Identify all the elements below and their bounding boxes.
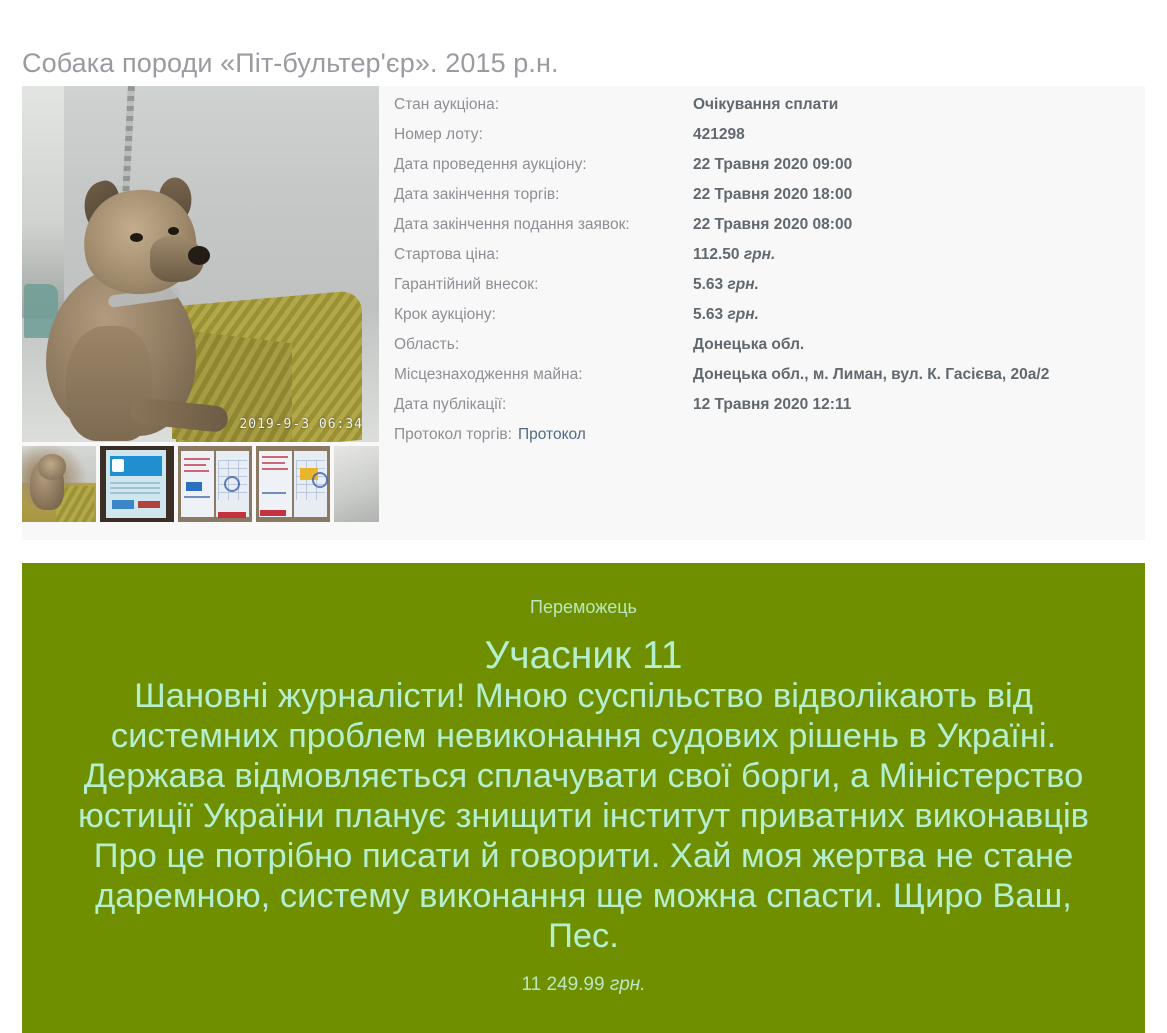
thumbnail-wall[interactable] [334, 446, 379, 522]
row-value-amount: 112.50 [693, 246, 740, 263]
table-row-protocol: Протокол торгів: Протокол [394, 426, 1134, 456]
row-label: Область: [394, 336, 693, 354]
row-value-amount: 5.63 [693, 276, 723, 293]
winner-price-amount: 11 249.99 [521, 974, 604, 995]
table-row-publication-date: Дата публікації: 12 Травня 2020 12:11 [394, 396, 1134, 426]
winner-caption: Переможець [48, 593, 1119, 621]
table-row-auction-date: Дата проведення аукціону: 22 Травня 2020… [394, 156, 1134, 186]
lot-details-table: Стан аукціона: Очікування сплати Номер л… [394, 96, 1134, 456]
table-row-start-price: Стартова ціна: 112.50 грн. [394, 246, 1134, 276]
currency-label: грн. [744, 246, 775, 263]
currency-label: грн. [727, 306, 758, 323]
thumbnail-dog-photo-image [22, 446, 96, 522]
thumbnail-passport-cover-image [100, 446, 174, 522]
currency-label: грн. [610, 974, 646, 995]
table-row-property-location: Місцезнаходження майна: Донецька обл., м… [394, 366, 1134, 396]
row-label: Гарантійний внесок: [394, 276, 693, 294]
row-label: Дата проведення аукціону: [394, 156, 693, 174]
row-label: Протокол торгів: [394, 426, 512, 444]
row-label: Дата закінчення торгів: [394, 186, 693, 204]
currency-label: грн. [727, 276, 758, 293]
thumbnail-passport-pages-2[interactable] [256, 446, 330, 522]
row-label: Дата публікації: [394, 396, 693, 414]
row-value: 22 Травня 2020 18:00 [693, 186, 852, 204]
row-value: 22 Травня 2020 08:00 [693, 216, 852, 234]
row-value: Донецька обл., м. Лиман, вул. К. Гасієва… [693, 366, 1049, 384]
table-row-lot-number: Номер лоту: 421298 [394, 126, 1134, 156]
thumbnail-passport-cover[interactable] [100, 446, 174, 522]
thumbnail-passport-pages-1-image [178, 446, 252, 522]
thumbnail-passport-pages-1[interactable] [178, 446, 252, 522]
thumbnail-dog-photo[interactable] [22, 446, 96, 522]
table-row-application-end-date: Дата закінчення подання заявок: 22 Травн… [394, 216, 1134, 246]
row-label: Дата закінчення подання заявок: [394, 216, 693, 234]
table-row-auction-step: Крок аукціону: 5.63 грн. [394, 306, 1134, 336]
protocol-link[interactable]: Протокол [518, 426, 586, 444]
winner-panel: Переможець Учасник 11 Шановні журналісти… [22, 563, 1145, 1033]
lot-detail-page: Собака породи «Піт-бультер'єр». 2015 р.н… [0, 0, 1167, 1033]
row-value: 22 Травня 2020 09:00 [693, 156, 852, 174]
table-row-bidding-end-date: Дата закінчення торгів: 22 Травня 2020 1… [394, 186, 1134, 216]
row-label: Місцезнаходження майна: [394, 366, 693, 384]
row-value: 5.63 грн. [693, 276, 759, 294]
table-row-guarantee-deposit: Гарантійний внесок: 5.63 грн. [394, 276, 1134, 306]
row-value-amount: 5.63 [693, 306, 723, 323]
dog-nose-shape [188, 246, 210, 265]
row-label: Номер лоту: [394, 126, 693, 144]
table-row-auction-state: Стан аукціона: Очікування сплати [394, 96, 1134, 126]
status-badge: Очікування сплати [693, 96, 838, 114]
winner-name: Учасник 11 [48, 631, 1119, 680]
lot-gallery: 2019-9-3 06:34 [22, 86, 379, 526]
row-value: Донецька обл. [693, 336, 804, 354]
dog-left-eye-shape [130, 233, 143, 242]
thumbnail-passport-pages-2-image [256, 446, 330, 522]
row-label: Крок аукціону: [394, 306, 693, 324]
dog-right-eye-shape [168, 227, 179, 235]
row-value: 12 Травня 2020 12:11 [693, 396, 851, 414]
page-title: Собака породи «Піт-бультер'єр». 2015 р.н… [22, 48, 559, 79]
thumbnail-wall-image [334, 446, 379, 522]
row-label: Стан аукціона: [394, 96, 693, 114]
row-label: Стартова ціна: [394, 246, 693, 264]
row-value: 421298 [693, 126, 745, 144]
thumbnail-strip[interactable] [22, 446, 379, 524]
row-value: 5.63 грн. [693, 306, 759, 324]
winner-message: Шановні журналісти! Мною суспільство від… [48, 676, 1119, 956]
hero-image[interactable]: 2019-9-3 06:34 [22, 86, 379, 442]
table-row-region: Область: Донецька обл. [394, 336, 1134, 366]
photo-timestamp-watermark: 2019-9-3 06:34 [239, 417, 363, 432]
row-value: 112.50 грн. [693, 246, 775, 264]
winner-price: 11 249.99 грн. [48, 970, 1119, 1000]
